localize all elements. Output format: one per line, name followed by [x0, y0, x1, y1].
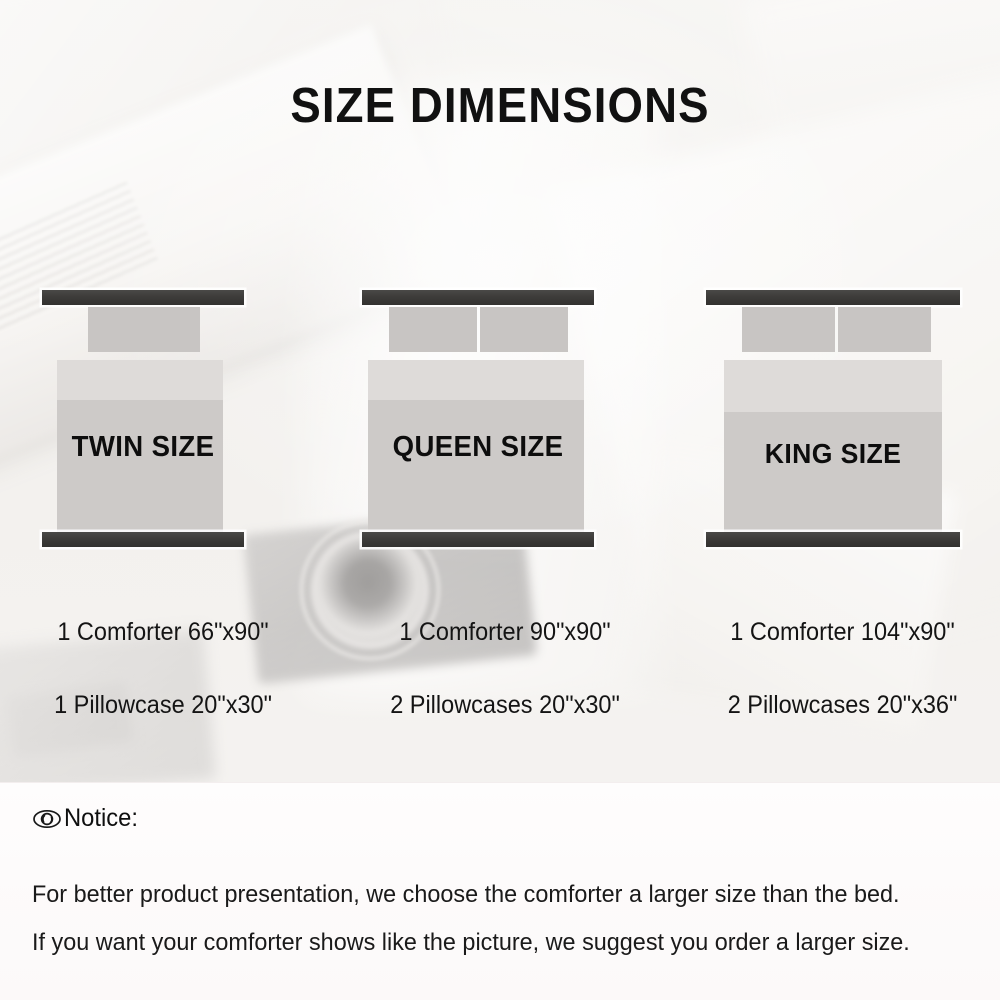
bed-label-king: KING SIZE — [712, 438, 953, 470]
spec-column-queen: 1 Comforter 90"x90" 2 Pillowcases 20"x30… — [345, 618, 665, 720]
footboard-bar-twin — [42, 532, 244, 547]
bed-label-queen: QUEEN SIZE — [368, 431, 588, 464]
mattress-sheet-band-queen — [368, 360, 584, 400]
footboard-bar-queen — [362, 532, 594, 547]
bed-diagram-twin: TWIN SIZE — [42, 288, 244, 550]
spec-comforter-queen: 1 Comforter 90"x90" — [355, 618, 656, 647]
pillow-queen-right — [480, 307, 568, 352]
spec-column-king: 1 Comforter 104"x90" 2 Pillowcases 20"x3… — [690, 618, 995, 720]
mattress-body-band-queen — [368, 400, 584, 536]
eye-icon — [32, 808, 62, 830]
footboard-bar-king — [706, 532, 960, 547]
spec-comforter-king: 1 Comforter 104"x90" — [699, 618, 986, 647]
spec-pillowcase-twin: 1 Pillowcase 20"x30" — [17, 691, 308, 720]
headboard-bar-queen — [362, 290, 594, 305]
bed-diagram-queen: QUEEN SIZE — [362, 288, 594, 550]
mattress-body-band-king — [724, 412, 942, 536]
pillow-twin — [88, 307, 200, 352]
notice-header: Notice: — [32, 804, 142, 833]
bed-label-twin: TWIN SIZE — [47, 431, 239, 464]
headboard-bar-king — [706, 290, 960, 305]
mattress-sheet-band-king — [724, 360, 942, 412]
mattress-body-band-twin — [57, 400, 223, 536]
spec-text-group: 1 Comforter 66"x90" 1 Pillowcase 20"x30"… — [0, 608, 1000, 738]
notice-heading: Notice: — [64, 804, 138, 833]
spec-column-twin: 1 Comforter 66"x90" 1 Pillowcase 20"x30" — [8, 618, 318, 720]
notice-body: For better product presentation, we choo… — [32, 871, 972, 967]
notice-panel: Notice: For better product presentation,… — [0, 782, 1000, 1000]
pillow-king-right — [838, 307, 931, 352]
pillow-queen-left — [389, 307, 477, 352]
spec-comforter-twin: 1 Comforter 66"x90" — [17, 618, 308, 647]
bed-diagram-king: KING SIZE — [706, 288, 960, 550]
size-dimensions-infographic: SIZE DIMENSIONS TWIN SIZE QUEEN SIZE — [0, 0, 1000, 1000]
spec-pillowcase-king: 2 Pillowcases 20"x36" — [699, 691, 986, 720]
notice-line-2: If you want your comforter shows like th… — [32, 919, 930, 967]
notice-line-1: For better product presentation, we choo… — [32, 871, 930, 919]
mattress-sheet-band-twin — [57, 360, 223, 400]
spec-pillowcase-queen: 2 Pillowcases 20"x30" — [355, 691, 656, 720]
headboard-bar-twin — [42, 290, 244, 305]
pillow-king-left — [742, 307, 835, 352]
